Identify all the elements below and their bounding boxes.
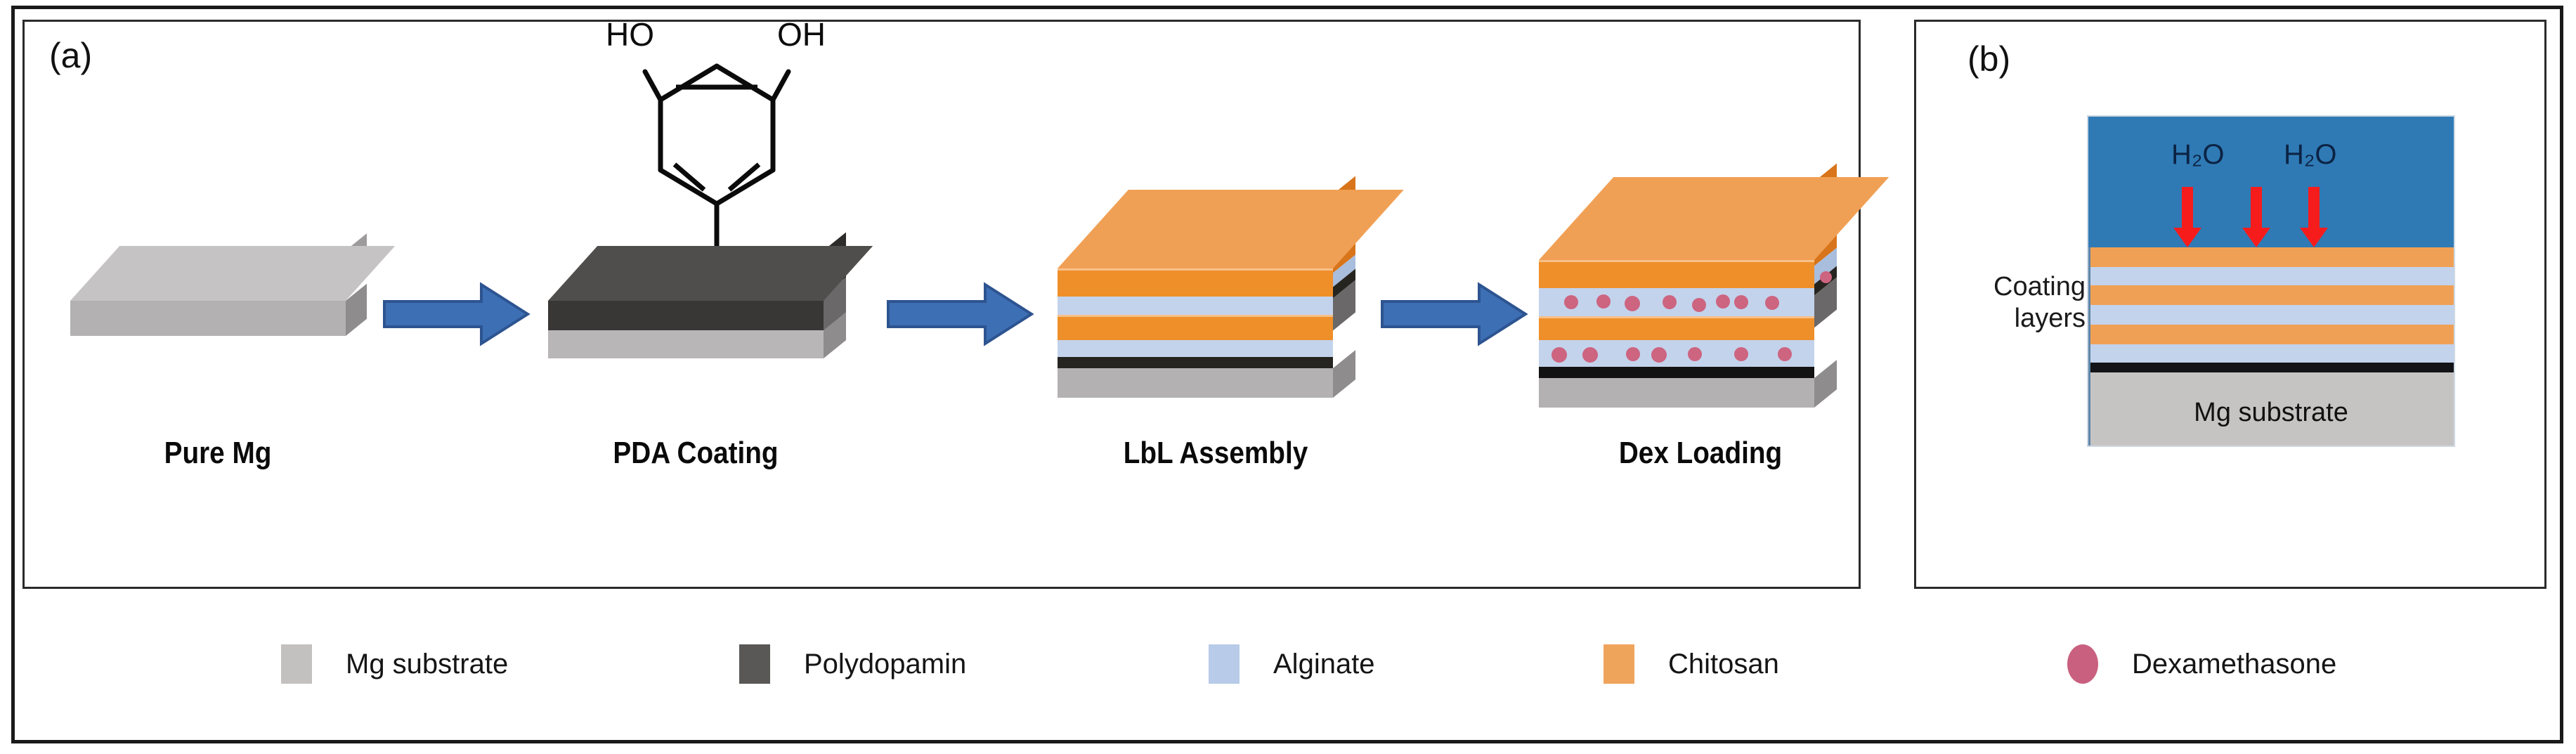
- dex-particle: [1582, 347, 1598, 363]
- legend-label-mg-substrate: Mg substrate: [346, 649, 508, 680]
- stage-label-lbl-assembly: LbL Assembly: [1061, 436, 1370, 471]
- legend-item-polydopamin: Polydopamin: [739, 618, 966, 710]
- legend: Mg substrate Polydopamin Alginate Chitos…: [22, 618, 2541, 710]
- legend-item-chitosan: Chitosan: [1604, 618, 1779, 710]
- pure-mg-front-face: [70, 301, 346, 336]
- xsec-band-alginate-2: [2088, 305, 2454, 325]
- dex-front-chitosan-1: [1539, 316, 1814, 342]
- xsec-band-polydopamine: [2088, 363, 2454, 372]
- dex-front-alginate-2: [1539, 288, 1814, 316]
- dex-particle: [1596, 294, 1611, 308]
- dex-front-alginate-1: [1539, 340, 1814, 367]
- stage-label-pure-mg: Pure Mg: [63, 436, 372, 471]
- dex-particle: [1626, 347, 1640, 361]
- xsec-left-edge-rule: [2088, 247, 2090, 446]
- process-arrow-2: [887, 278, 1034, 351]
- dex-particle: [1734, 347, 1748, 361]
- legend-item-alginate: Alginate: [1209, 618, 1375, 710]
- legend-item-dexamethasone: Dexamethasone: [2067, 618, 2336, 710]
- xsec-mg-substrate-label: Mg substrate: [2088, 398, 2454, 428]
- xsec-band-chitosan-2: [2088, 285, 2454, 305]
- coating-cross-section-diagram: H₂O H₂O Mg substrate: [2088, 117, 2454, 446]
- lbl-mg-bevel: [1333, 350, 1355, 398]
- xsec-band-water: [2088, 117, 2454, 247]
- water-ingress-arrow-1: [2173, 187, 2202, 249]
- water-ingress-arrow-3: [2299, 187, 2329, 249]
- legend-label-dexamethasone: Dexamethasone: [2132, 649, 2336, 680]
- dex-particle: [1688, 347, 1702, 361]
- molecule-label-ho: HO: [606, 15, 654, 53]
- lbl-front-alginate-1: [1058, 340, 1333, 357]
- lbl-front-chitosan-1: [1058, 315, 1333, 342]
- water-ingress-arrow-2: [2242, 187, 2271, 249]
- dex-particle-side: [1820, 271, 1832, 283]
- process-arrow-1: [383, 278, 531, 351]
- process-arrow-3: [1381, 278, 1528, 351]
- pda-coating-slab: [548, 246, 850, 394]
- pda-mg-substrate-front-face: [548, 330, 824, 358]
- lbl-front-chitosan-2: [1058, 268, 1333, 299]
- legend-label-polydopamin: Polydopamin: [804, 649, 966, 680]
- coating-layers-line-2: layers: [1924, 303, 2086, 334]
- legend-label-chitosan: Chitosan: [1668, 649, 1779, 680]
- panel-a-tag: (a): [49, 35, 92, 76]
- xsec-band-chitosan-3: [2088, 247, 2454, 267]
- dex-particle: [1692, 298, 1706, 312]
- lbl-front-alginate-2: [1058, 297, 1333, 315]
- lbl-assembly-slab: [1058, 190, 1367, 394]
- lbl-front-mg-substrate: [1058, 368, 1333, 398]
- lbl-front-pda: [1058, 357, 1333, 368]
- dex-particle: [1564, 295, 1578, 309]
- dex-particle: [1663, 295, 1677, 309]
- dex-particle: [1778, 347, 1792, 361]
- coating-layers-line-1: Coating: [1924, 271, 2086, 303]
- dex-loading-slab: [1539, 177, 1848, 395]
- stage-label-dex-loading: Dex Loading: [1546, 436, 1855, 471]
- pure-mg-slab: [70, 246, 365, 358]
- coating-layers-label: Coating layers: [1924, 271, 2086, 334]
- xsec-band-alginate-3: [2088, 267, 2454, 285]
- pda-front-face: [548, 301, 824, 330]
- figure-canvas: (a) Pure Mg: [0, 0, 2576, 754]
- dex-front-chitosan-2: [1539, 260, 1814, 290]
- legend-item-mg-substrate: Mg substrate: [281, 618, 508, 710]
- dex-particle: [1716, 294, 1730, 308]
- molecule-label-oh: OH: [777, 15, 826, 53]
- legend-swatch-alginate: [1209, 644, 1240, 684]
- xsec-band-alginate-1: [2088, 344, 2454, 363]
- xsec-band-chitosan-1: [2088, 325, 2454, 344]
- legend-swatch-polydopamin: [739, 644, 770, 684]
- panel-b-tag: (b): [1967, 39, 2010, 79]
- legend-swatch-mg-substrate: [281, 644, 312, 684]
- dex-particle: [1552, 347, 1567, 363]
- legend-swatch-dexamethasone: [2067, 644, 2098, 684]
- xsec-water-label-right: H₂O: [2284, 139, 2337, 171]
- dex-particle: [1734, 295, 1748, 309]
- dex-front-mg-substrate: [1539, 378, 1814, 408]
- dex-front-pda: [1539, 367, 1814, 378]
- dex-particle: [1625, 296, 1640, 311]
- pure-mg-top-face: [70, 246, 395, 301]
- legend-swatch-chitosan: [1604, 644, 1634, 684]
- legend-label-alginate: Alginate: [1273, 649, 1375, 680]
- dex-particle: [1651, 347, 1667, 363]
- xsec-water-label-left: H₂O: [2171, 139, 2225, 171]
- stage-label-pda-coating: PDA Coating: [541, 436, 850, 471]
- pda-top-face: [548, 246, 873, 301]
- dex-particle: [1765, 296, 1779, 310]
